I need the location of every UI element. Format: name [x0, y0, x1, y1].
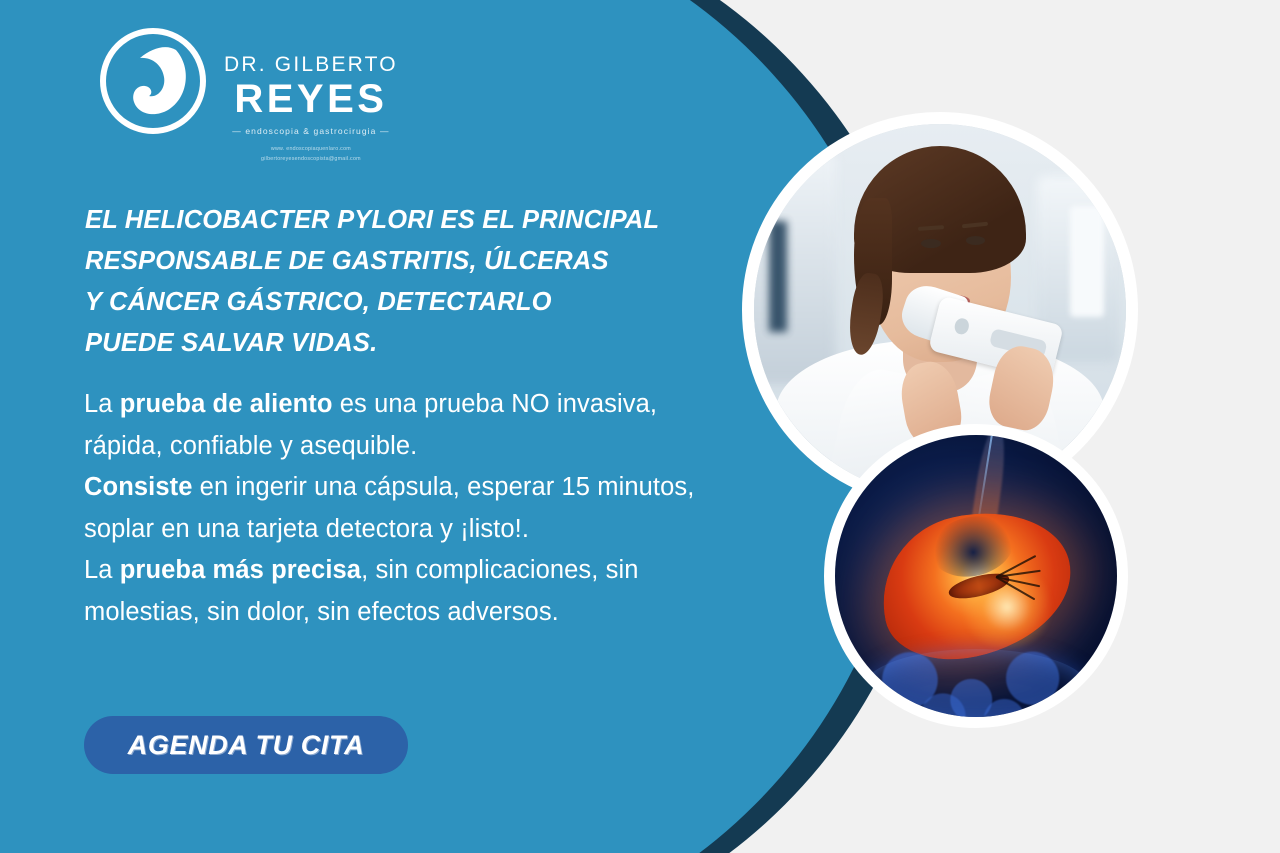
headline-line-2: RESPONSABLE DE GASTRITIS, ÚLCERAS: [85, 241, 695, 282]
stomach-helicobacter-illustration: [824, 424, 1128, 728]
body-p2-bold: Consiste: [84, 473, 193, 501]
body-paragraph-3: La prueba más precisa, sin complicacione…: [84, 550, 724, 633]
intestines-glow: [863, 649, 1089, 728]
lab-blur-left: [742, 154, 836, 385]
brand-logo: DR. GILBERTO REYES — endoscopia & gastro…: [96, 24, 398, 165]
headline-line-3: Y CÁNCER GÁSTRICO, DETECTARLO: [85, 282, 695, 323]
stomach-swirl-logo-icon: [96, 24, 210, 138]
body-p1-pre: La: [84, 390, 120, 418]
lab-blur-bar: [769, 221, 788, 333]
brand-tagline: — endoscopia & gastrocirugia —: [224, 126, 398, 136]
bacteria-flagella: [996, 559, 1041, 593]
poster-root: DR. GILBERTO REYES — endoscopia & gastro…: [0, 0, 1280, 853]
headline-line-1: EL HELICOBACTER PYLORI ES EL PRINCIPAL: [85, 200, 695, 241]
headline: EL HELICOBACTER PYLORI ES EL PRINCIPAL R…: [85, 200, 695, 364]
brand-contact: www. endoscopiaquenlaro.com gilbertoreye…: [224, 145, 398, 165]
brand-website: www. endoscopiaquenlaro.com: [224, 145, 398, 155]
body-p1-bold: prueba de aliento: [120, 390, 333, 418]
brand-name-line1: DR. GILBERTO: [224, 54, 398, 76]
body-p3-pre: La: [84, 556, 120, 584]
body-paragraph-2: Consiste en ingerir una cápsula, esperar…: [84, 467, 724, 550]
brand-wordmark: DR. GILBERTO REYES — endoscopia & gastro…: [224, 24, 398, 165]
body-paragraph-1: La prueba de aliento es una prueba NO in…: [84, 384, 724, 467]
brand-name-line2: REYES: [224, 78, 398, 120]
brand-email: gilbertoreyesendoscopista@gmail.com: [224, 155, 398, 165]
breath-card-button: [953, 317, 971, 337]
headline-line-4: PUEDE SALVAR VIDAS.: [85, 323, 695, 364]
body-p3-bold: prueba más precisa: [120, 556, 361, 584]
body-copy: La prueba de aliento es una prueba NO in…: [84, 384, 724, 633]
lab-blur-right-2: [1070, 206, 1103, 318]
schedule-appointment-button[interactable]: AGENDA TU CITA: [84, 716, 408, 774]
